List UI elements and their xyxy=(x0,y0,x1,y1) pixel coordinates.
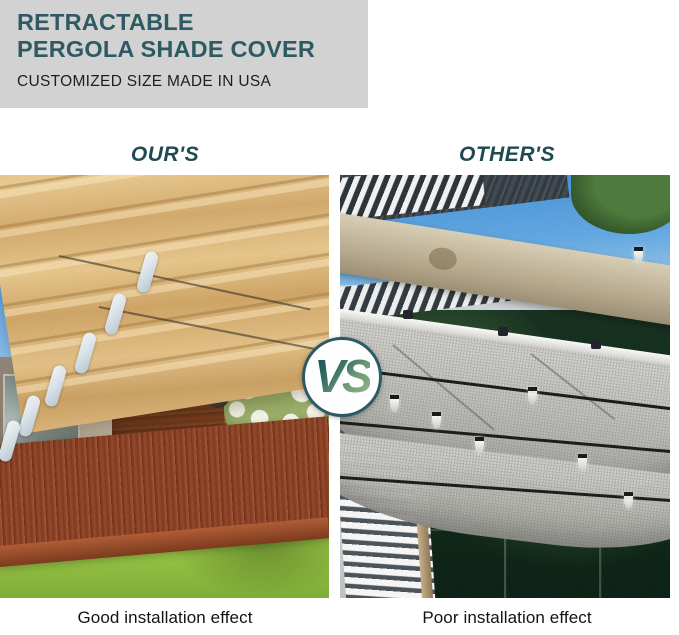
scene-good xyxy=(0,175,329,598)
fabric-clamp xyxy=(498,327,508,336)
vs-label: VS xyxy=(314,353,369,402)
light-bulb xyxy=(634,247,643,264)
label-ours: OUR'S xyxy=(0,143,330,167)
scene-poor xyxy=(340,175,670,598)
fabric-clamp xyxy=(403,310,413,319)
label-others: OTHER'S xyxy=(342,143,672,167)
fabric-clamp xyxy=(591,340,601,349)
headline-line-1: RETRACTABLE xyxy=(17,9,194,35)
light-bulb xyxy=(390,395,399,412)
page-subtitle: CUSTOMIZED SIZE MADE IN USA xyxy=(17,73,368,91)
page-title: RETRACTABLE PERGOLA SHADE COVER xyxy=(17,9,368,63)
header-banner: RETRACTABLE PERGOLA SHADE COVER CUSTOMIZ… xyxy=(0,0,368,108)
vs-badge: VS xyxy=(302,337,382,417)
headline-line-2: PERGOLA SHADE COVER xyxy=(17,36,368,63)
photo-poor-installation xyxy=(340,175,670,598)
photo-good-installation xyxy=(0,175,329,598)
caption-good-installation: Good installation effect xyxy=(0,608,330,628)
light-bulb xyxy=(578,454,587,471)
caption-poor-installation: Poor installation effect xyxy=(342,608,672,628)
